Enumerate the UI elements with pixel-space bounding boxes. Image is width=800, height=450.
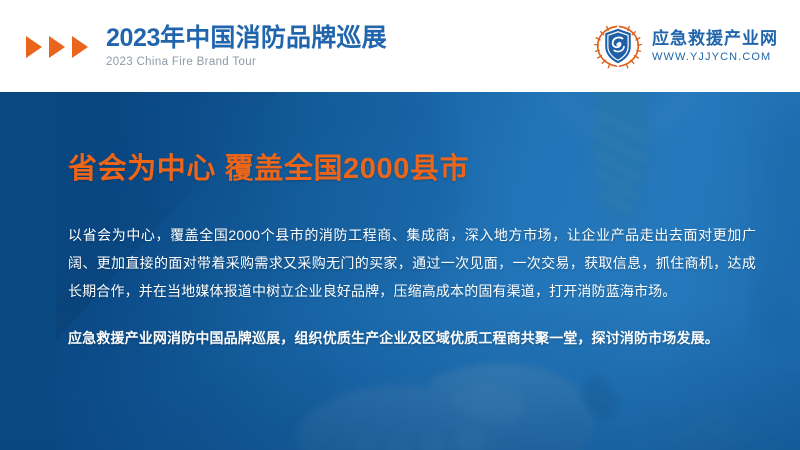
triangle-right-icon	[72, 36, 88, 58]
hero-headline: 省会为中心 覆盖全国2000县市	[68, 154, 758, 186]
hero-closing-text: 应急救援产业网消防中国品牌巡展，组织优质生产企业及区域优质工程商共聚一堂，探讨消…	[68, 327, 768, 351]
page-title-year: 2023	[106, 24, 160, 52]
page-header: 2023年中国消防品牌巡展 2023 China Fire Brand Tour	[0, 0, 800, 92]
shield-wreath-logo-icon	[594, 22, 642, 70]
hero-content: 省会为中心 覆盖全国2000县市 以省会为中心，覆盖全国2000个县市的消防工程…	[68, 154, 758, 351]
page-title: 2023年中国消防品牌巡展	[106, 24, 387, 52]
hero-banner: 省会为中心 覆盖全国2000县市 以省会为中心，覆盖全国2000个县市的消防工程…	[0, 92, 800, 450]
header-title-block: 2023年中国消防品牌巡展 2023 China Fire Brand Tour	[106, 24, 387, 68]
logo-text-block: 应急救援产业网 WWW.YJJYCN.COM	[652, 29, 778, 63]
triangle-right-icon	[49, 36, 65, 58]
header-brand-group: 2023年中国消防品牌巡展 2023 China Fire Brand Tour	[26, 24, 387, 68]
triangle-arrows-group	[26, 36, 88, 58]
page-title-cn: 年中国消防品牌巡展	[160, 24, 387, 52]
slide-root: 2023年中国消防品牌巡展 2023 China Fire Brand Tour	[0, 0, 800, 450]
site-logo[interactable]: 应急救援产业网 WWW.YJJYCN.COM	[594, 22, 778, 70]
hero-body-text: 以省会为中心，覆盖全国2000个县市的消防工程商、集成商，深入地方市场，让企业产…	[68, 221, 756, 305]
logo-name-cn: 应急救援产业网	[652, 29, 778, 49]
page-subtitle: 2023 China Fire Brand Tour	[106, 56, 387, 68]
triangle-right-icon	[26, 36, 42, 58]
logo-url: WWW.YJJYCN.COM	[652, 51, 778, 63]
